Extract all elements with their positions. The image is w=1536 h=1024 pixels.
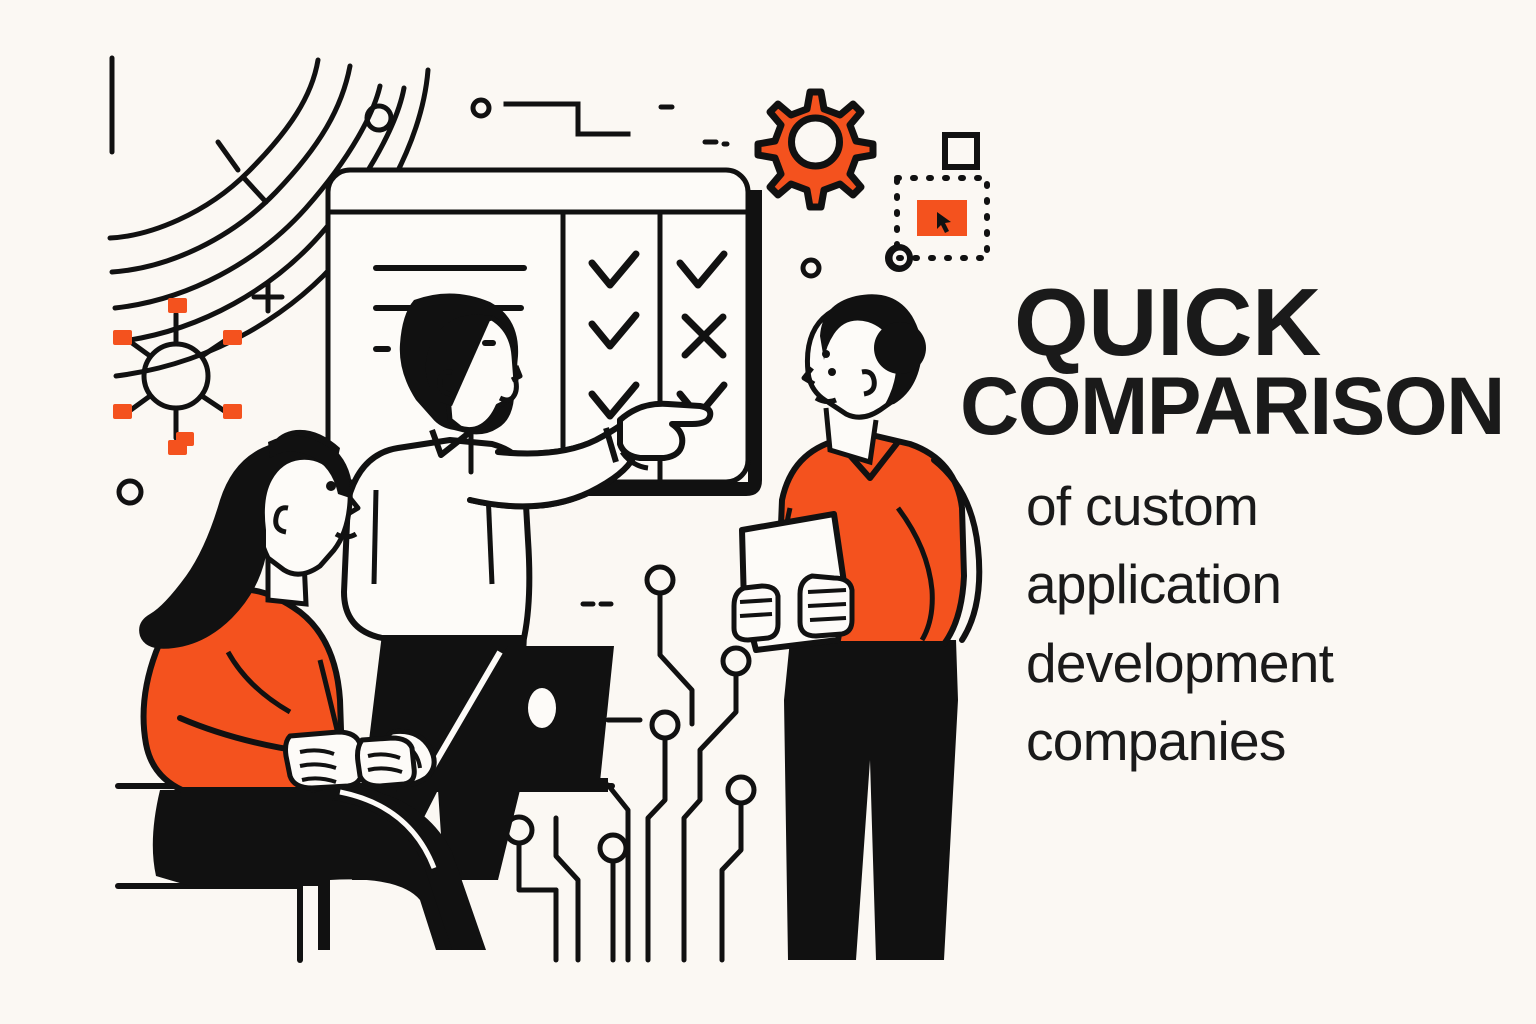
headline-block: QUICK COMPARISON of custom application d… xyxy=(958,278,1478,780)
standing-woman-with-tablet xyxy=(734,294,979,960)
orange-marker-square xyxy=(176,432,194,446)
page-subtitle: of custom application development compan… xyxy=(958,445,1478,779)
cursor-selection-icon xyxy=(888,178,987,269)
poster-canvas: QUICK COMPARISON of custom application d… xyxy=(0,0,1536,1024)
subtitle-line-3: development xyxy=(1026,624,1478,702)
headline-line-2: COMPARISON xyxy=(958,368,1478,445)
subtitle-line-2: application xyxy=(1026,545,1478,623)
step-line-icon xyxy=(506,104,628,134)
headline-line-1: QUICK xyxy=(958,278,1478,368)
gear-icon xyxy=(758,92,873,207)
outline-square-icon xyxy=(945,135,977,167)
subtitle-line-1: of custom xyxy=(1026,467,1478,545)
subtitle-line-4: companies xyxy=(1026,702,1478,780)
page-title: QUICK COMPARISON xyxy=(958,278,1478,445)
hub-and-spoke-node-icon xyxy=(113,298,242,455)
